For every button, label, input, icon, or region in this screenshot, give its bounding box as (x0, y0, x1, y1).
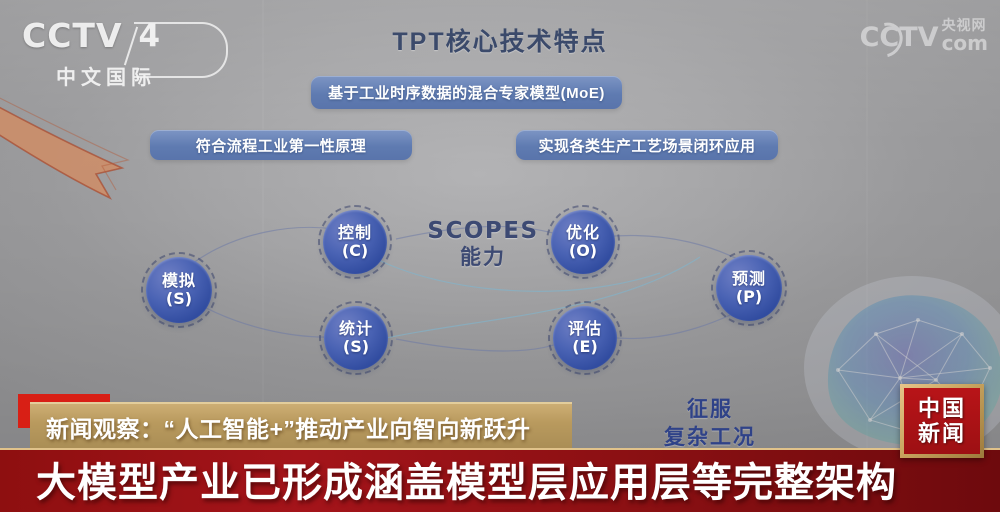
pill-closed-loop: 实现各类生产工艺场景闭环应用 (516, 130, 778, 160)
lower-third: 新闻观察：“人工智能+”推动产业向智向新跃升 大模型产业已形成涵盖模型层应用层等… (0, 394, 1000, 512)
node-opt-label: 优化 (566, 225, 600, 242)
node-opt-code: (O) (569, 242, 597, 260)
subtitle-bar: 新闻观察：“人工智能+”推动产业向智向新跃升 (30, 402, 572, 450)
node-sim-label: 模拟 (162, 273, 196, 290)
node-eva-label: 评估 (568, 321, 602, 338)
node-control: 控制 (C) (323, 210, 387, 274)
scopes-center-label: SCOPES 能力 (408, 218, 558, 271)
pill-first-principle: 符合流程工业第一性原理 (150, 130, 412, 160)
node-prediction: 预测 (P) (716, 255, 782, 321)
node-pre-code: (P) (736, 288, 762, 306)
program-badge: 中国 新闻 (900, 384, 984, 458)
node-ctl-code: (C) (342, 242, 368, 260)
node-sta-label: 统计 (339, 321, 373, 338)
node-sim-code: (S) (166, 290, 192, 308)
chevron-decoration-icon (0, 78, 160, 208)
node-optimization: 优化 (O) (551, 210, 615, 274)
node-sta-code: (S) (343, 338, 369, 356)
broadcast-screen: CCTV 4 中文国际 CCTV 央视网 com (0, 0, 1000, 512)
headline-text: 大模型产业已形成涵盖模型层应用层等完整架构 (36, 450, 897, 508)
node-simulation: 模拟 (S) (146, 257, 212, 323)
program-name-line1: 中国 (918, 396, 966, 421)
program-name-line2: 新闻 (918, 421, 966, 446)
subtitle-text: 新闻观察：“人工智能+”推动产业向智向新跃升 (46, 410, 530, 444)
scopes-title: SCOPES (408, 218, 558, 245)
pill-moe-model: 基于工业时序数据的混合专家模型(MoE) (311, 76, 622, 109)
slide-title: TPT核心技术特点 (0, 22, 1000, 58)
node-evaluation: 评估 (E) (553, 306, 617, 370)
node-ctl-label: 控制 (338, 225, 372, 242)
node-statistics: 统计 (S) (324, 306, 388, 370)
node-pre-label: 预测 (732, 271, 766, 288)
scopes-subtitle: 能力 (408, 245, 558, 271)
node-eva-code: (E) (572, 338, 598, 356)
